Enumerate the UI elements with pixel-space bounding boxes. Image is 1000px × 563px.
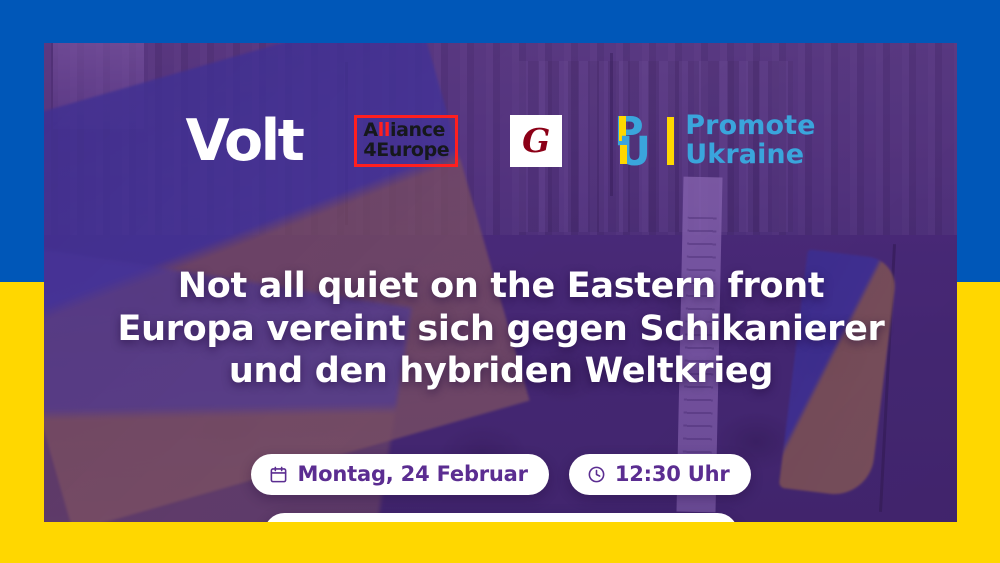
event-poster: Volt Alliance 4Europe G P U Promote Ukra [0,0,1000,563]
alliance4europe-line-2: 4Europe [363,141,449,160]
alliance4europe-ll: ll [378,119,390,141]
clock-icon [587,465,606,484]
event-location-text: Place du Luxembourg, 1050 Elsene [310,521,718,522]
promote-ukraine-monogram: P U [614,115,658,167]
event-date-pill: Montag, 24 Februar [251,454,548,495]
calendar-icon [269,465,288,484]
photo-panel: Volt Alliance 4Europe G P U Promote Ukra [44,43,957,522]
promote-ukraine-word-2: Ukraine [685,141,815,170]
alliance4europe-a: A [363,119,377,141]
event-location-pill: Place du Luxembourg, 1050 Elsene [264,513,739,522]
promote-ukraine-word-1: Promote [685,112,815,141]
alliance4europe-line-1: Alliance [363,121,449,140]
promote-ukraine-u-accent [620,145,627,164]
event-time-text: 12:30 Uhr [615,462,730,486]
headline-line-1: Not all quiet on the Eastern front [88,265,914,308]
headline-line-2: Europa vereint sich gegen Schikanierer [88,308,914,351]
promote-ukraine-divider [667,117,674,165]
headline-line-3: und den hybriden Weltkrieg [88,350,914,393]
guardians-logo: G [510,115,562,167]
guardians-g-glyph: G [522,124,550,157]
event-headline: Not all quiet on the Eastern front Europ… [88,265,914,393]
promote-ukraine-logo: P U Promote Ukraine [614,112,815,169]
promote-ukraine-wordmark: Promote Ukraine [685,112,815,169]
logo-row: Volt Alliance 4Europe G P U Promote Ukra [44,105,957,177]
event-date-text: Montag, 24 Februar [297,462,527,486]
alliance4europe-logo: Alliance 4Europe [354,115,458,167]
volt-logo: Volt [185,113,302,170]
alliance4europe-iance: iance [390,119,445,141]
event-time-pill: 12:30 Uhr [569,454,751,495]
event-meta-row-secondary: Place du Luxembourg, 1050 Elsene [88,513,914,522]
event-meta-row-primary: Montag, 24 Februar 12:30 Uhr [88,454,914,495]
